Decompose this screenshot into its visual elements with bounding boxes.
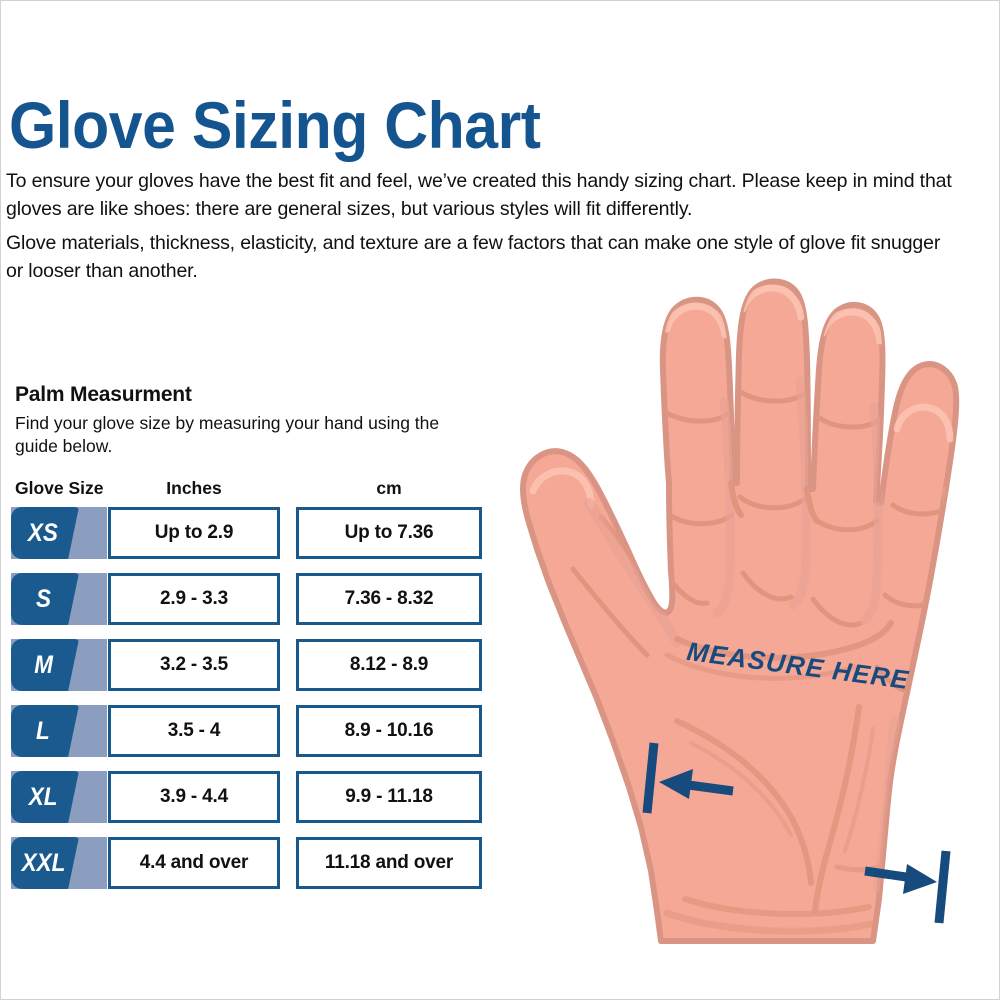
cell-inches: 3.5 - 4 — [108, 705, 280, 757]
cell-cm: 7.36 - 8.32 — [296, 573, 482, 625]
size-badge-xl: XL — [11, 771, 79, 823]
palm-measurement-heading: Palm Measurment — [15, 383, 192, 407]
palm-measurement-subtext: Find your glove size by measuring your h… — [15, 412, 485, 458]
table-row: M3.2 - 3.58.12 - 8.9 — [1, 639, 501, 691]
cell-inches: 2.9 - 3.3 — [108, 573, 280, 625]
cell-cm: 8.9 - 10.16 — [296, 705, 482, 757]
size-badge-xs: XS — [11, 507, 79, 559]
size-badge-label: S — [36, 587, 55, 612]
size-badge-label: M — [34, 653, 56, 678]
column-header-glove-size: Glove Size — [15, 478, 104, 499]
cell-inches: 4.4 and over — [108, 837, 280, 889]
size-badge-xxl: XXL — [11, 837, 79, 889]
sizing-table-header-row: Glove Size Inches cm — [1, 478, 501, 500]
cell-inches: Up to 2.9 — [108, 507, 280, 559]
arrow-left-icon — [659, 769, 733, 799]
intro-paragraph-1: To ensure your gloves have the best fit … — [6, 167, 966, 223]
size-badge-s: S — [11, 573, 79, 625]
table-row: XL3.9 - 4.49.9 - 11.18 — [1, 771, 501, 823]
measure-tick-left-icon — [647, 743, 654, 813]
measure-tick-right-icon — [939, 851, 946, 923]
cell-cm: 11.18 and over — [296, 837, 482, 889]
table-row: S2.9 - 3.37.36 - 8.32 — [1, 573, 501, 625]
column-header-cm: cm — [296, 478, 482, 499]
size-badge-label: L — [36, 719, 53, 744]
size-badge-label: XL — [29, 785, 61, 810]
cell-cm: 8.12 - 8.9 — [296, 639, 482, 691]
cell-inches: 3.2 - 3.5 — [108, 639, 280, 691]
sizing-chart-page: Glove Sizing Chart To ensure your gloves… — [0, 0, 1000, 1000]
size-badge-label: XXL — [21, 851, 68, 876]
cell-cm: Up to 7.36 — [296, 507, 482, 559]
size-badge-l: L — [11, 705, 79, 757]
hand-illustration — [481, 251, 1000, 971]
arrow-right-icon — [865, 864, 937, 894]
page-title: Glove Sizing Chart — [9, 89, 541, 161]
table-row: XXL4.4 and over11.18 and over — [1, 837, 501, 889]
table-row: L3.5 - 48.9 - 10.16 — [1, 705, 501, 757]
column-header-inches: Inches — [108, 478, 280, 499]
table-row: XSUp to 2.9Up to 7.36 — [1, 507, 501, 559]
sizing-table-body: XSUp to 2.9Up to 7.36S2.9 - 3.37.36 - 8.… — [1, 507, 501, 903]
cell-cm: 9.9 - 11.18 — [296, 771, 482, 823]
cell-inches: 3.9 - 4.4 — [108, 771, 280, 823]
size-badge-m: M — [11, 639, 79, 691]
size-badge-label: XS — [28, 521, 62, 546]
